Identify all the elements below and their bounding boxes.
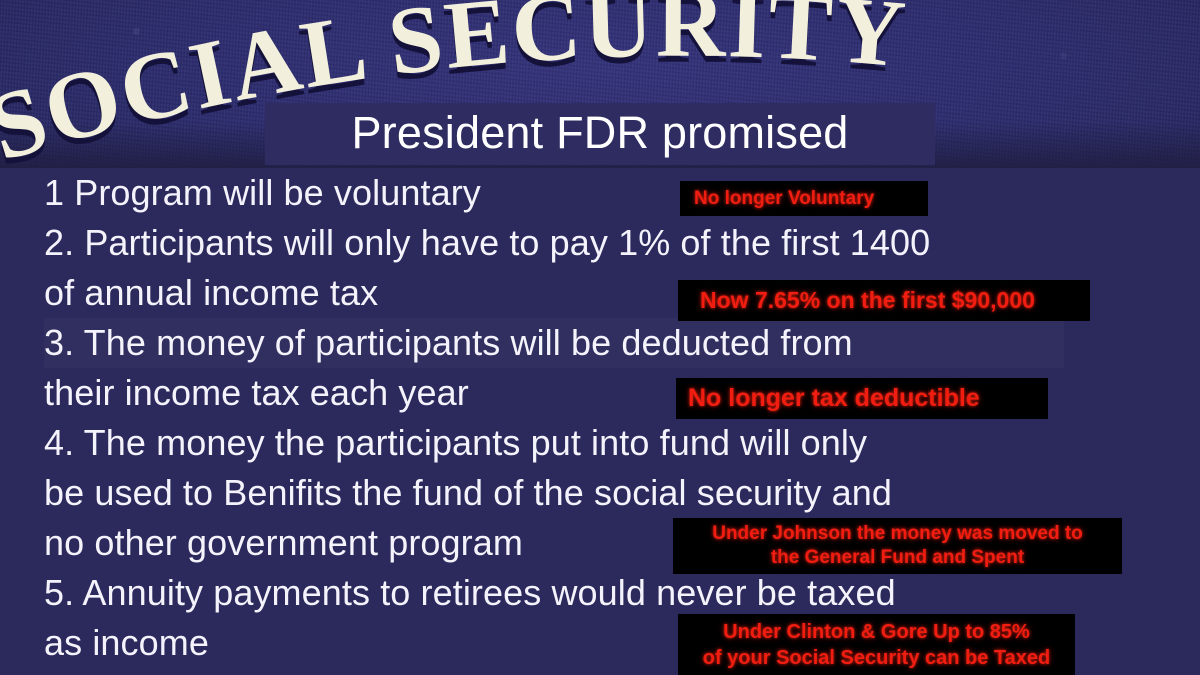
callout-line: No longer Voluntary — [694, 188, 874, 210]
callout-line: Under Johnson the money was moved to — [712, 522, 1083, 546]
callout-line: the General Fund and Spent — [771, 546, 1024, 570]
callout-line: Under Clinton & Gore Up to 85% — [723, 619, 1030, 645]
callout-no-longer-voluntary: No longer Voluntary — [680, 181, 928, 216]
list-item: 4. The money the participants put into f… — [44, 418, 1064, 468]
list-item: be used to Benifits the fund of the soci… — [44, 468, 1064, 518]
callout-clinton-gore-taxed: Under Clinton & Gore Up to 85% of your S… — [678, 614, 1075, 675]
list-item: 3. The money of participants will be ded… — [44, 318, 1064, 368]
callout-current-rate: Now 7.65% on the first $90,000 — [678, 280, 1090, 321]
list-item: 5. Annuity payments to retirees would ne… — [44, 568, 1064, 618]
callout-line: Now 7.65% on the first $90,000 — [700, 287, 1035, 314]
callout-line: No longer tax deductible — [688, 384, 980, 413]
list-item: 2. Participants will only have to pay 1%… — [44, 218, 1064, 268]
callout-line: of your Social Security can be Taxed — [703, 645, 1051, 671]
page-title: President FDR promised — [265, 100, 935, 166]
callout-not-tax-deductible: No longer tax deductible — [676, 378, 1048, 419]
slide-canvas: SOCIAL SECURITY SOCIAL SECURITY Presiden… — [0, 0, 1200, 675]
callout-johnson-general-fund: Under Johnson the money was moved to the… — [673, 518, 1122, 574]
